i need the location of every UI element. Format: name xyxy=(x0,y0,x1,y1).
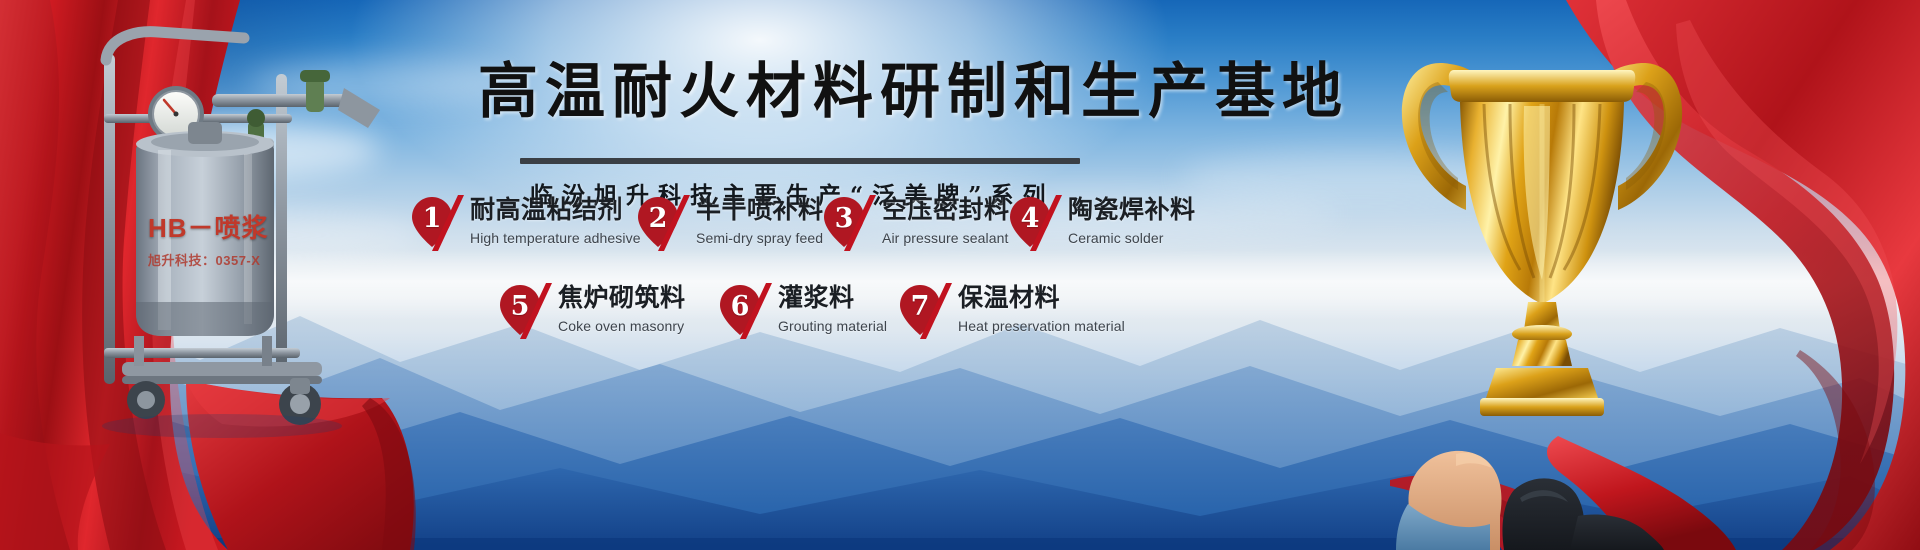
number-badge-icon: 4 xyxy=(1010,195,1062,251)
product-item-5[interactable]: 5 焦炉砌筑料 Coke oven masonry xyxy=(500,283,686,339)
product-item-7[interactable]: 7 保温材料 Heat preservation material xyxy=(900,283,1125,339)
banner-text-block: 高温耐火材料研制和生产基地 临汾旭升科技主要生产“泛美牌”系列 1 耐高温粘结剂 xyxy=(410,0,1510,550)
product-name-cn: 保温材料 xyxy=(958,284,1125,312)
number-badge-icon: 6 xyxy=(720,283,772,339)
banner-title: 高温耐火材料研制和生产基地 xyxy=(478,62,1349,122)
number-badge-icon: 5 xyxy=(500,283,552,339)
product-name-en: Grouting material xyxy=(778,318,887,334)
product-number: 4 xyxy=(1010,198,1050,238)
product-number: 3 xyxy=(824,198,864,238)
product-item-6[interactable]: 6 灌浆料 Grouting material xyxy=(720,283,887,339)
product-labels: 保温材料 Heat preservation material xyxy=(958,283,1125,334)
product-name-en: Ceramic solder xyxy=(1068,230,1196,246)
product-labels: 焦炉砌筑料 Coke oven masonry xyxy=(558,283,686,334)
product-brand-text: HB－喷浆 xyxy=(148,208,338,245)
product-contact-text: 旭升科技：0357-X xyxy=(148,250,358,269)
product-name-cn: 空压密封料 xyxy=(882,196,1010,224)
title-divider xyxy=(520,158,1080,164)
product-item-4[interactable]: 4 陶瓷焊补料 Ceramic solder xyxy=(1010,195,1196,251)
product-labels: 耐高温粘结剂 High temperature adhesive xyxy=(470,195,641,246)
product-item-3[interactable]: 3 空压密封料 Air pressure sealant xyxy=(824,195,1010,251)
product-list: 1 耐高温粘结剂 High temperature adhesive 2 xyxy=(410,195,1510,371)
product-labels: 半干喷补料 Semi-dry spray feed xyxy=(696,195,824,246)
product-name-cn: 半干喷补料 xyxy=(696,196,824,224)
number-badge-icon: 3 xyxy=(824,195,876,251)
number-badge-icon: 2 xyxy=(638,195,690,251)
product-name-en: Heat preservation material xyxy=(958,318,1125,334)
product-list-row-1: 1 耐高温粘结剂 High temperature adhesive 2 xyxy=(410,195,1510,283)
product-labels: 陶瓷焊补料 Ceramic solder xyxy=(1068,195,1196,246)
product-name-cn: 灌浆料 xyxy=(778,284,887,312)
product-number: 5 xyxy=(500,286,540,326)
product-number: 2 xyxy=(638,198,678,238)
product-name-en: Semi-dry spray feed xyxy=(696,230,824,246)
product-item-2[interactable]: 2 半干喷补料 Semi-dry spray feed xyxy=(638,195,824,251)
product-labels: 灌浆料 Grouting material xyxy=(778,283,887,334)
product-name-cn: 耐高温粘结剂 xyxy=(470,196,641,224)
product-labels: 空压密封料 Air pressure sealant xyxy=(882,195,1010,246)
product-name-en: Air pressure sealant xyxy=(882,230,1010,246)
product-number: 6 xyxy=(720,286,760,326)
number-badge-icon: 1 xyxy=(412,195,464,251)
product-name-en: High temperature adhesive xyxy=(470,230,641,246)
product-number: 7 xyxy=(900,286,940,326)
product-name-cn: 焦炉砌筑料 xyxy=(558,284,686,312)
promotional-banner: HB－喷浆 旭升科技：0357-X xyxy=(0,0,1920,550)
product-list-row-2: 5 焦炉砌筑料 Coke oven masonry 6 xyxy=(410,283,1510,371)
number-badge-icon: 7 xyxy=(900,283,952,339)
product-name-en: Coke oven masonry xyxy=(558,318,686,334)
product-name-cn: 陶瓷焊补料 xyxy=(1068,196,1196,224)
product-number: 1 xyxy=(412,198,452,238)
product-item-1[interactable]: 1 耐高温粘结剂 High temperature adhesive xyxy=(412,195,641,251)
